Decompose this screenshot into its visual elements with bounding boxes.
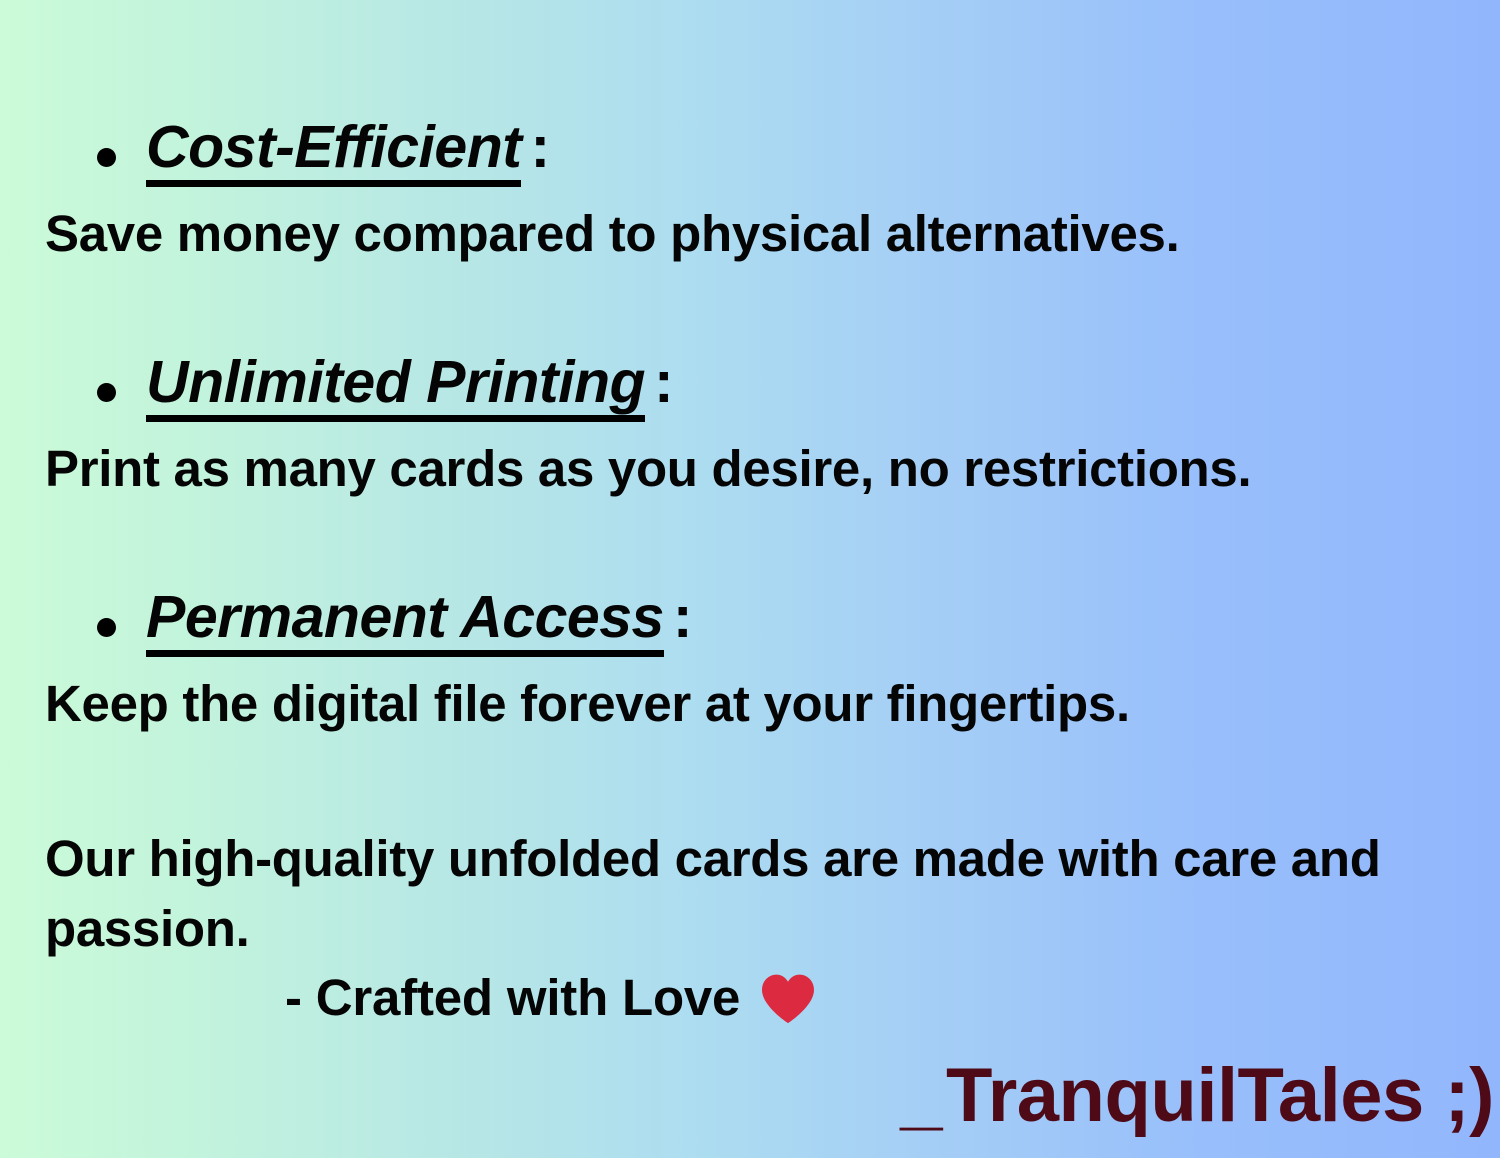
bullet-heading-row: Cost-Efficient: <box>0 118 1500 187</box>
signature-tranquiltales: _TranquilTales ;) <box>900 1056 1494 1136</box>
closing-paragraph: Our high-quality unfolded cards are made… <box>45 824 1425 965</box>
bullet-heading-label: Unlimited Printing <box>146 353 645 422</box>
bullet-dot-icon <box>97 148 116 167</box>
bullet-heading-row: Unlimited Printing: <box>0 353 1500 422</box>
bullet-heading-label: Cost-Efficient <box>146 118 521 187</box>
promo-poster: Cost-Efficient: Save money compared to p… <box>0 0 1500 1158</box>
bullet-description-permanent-access: Keep the digital file forever at your fi… <box>45 678 1130 729</box>
signature-name: TranquilTales ;) <box>946 1053 1494 1138</box>
bullet-block-unlimited-printing: Unlimited Printing: Print as many cards … <box>0 353 1500 422</box>
bullet-heading-colon: : <box>673 584 692 650</box>
bullet-description-cost-efficient: Save money compared to physical alternat… <box>45 208 1179 259</box>
bullet-dot-icon <box>97 383 116 402</box>
bullet-heading-colon: : <box>530 114 549 180</box>
bullet-heading-colon: : <box>654 349 673 415</box>
bullet-heading-label: Permanent Access <box>146 588 664 657</box>
crafted-with-love-line: - Crafted with Love <box>285 968 816 1027</box>
bullet-description-unlimited-printing: Print as many cards as you desire, no re… <box>45 443 1251 494</box>
bullet-heading-cost-efficient: Cost-Efficient: <box>146 118 550 187</box>
signature-underscore: _ <box>900 1053 942 1138</box>
bullet-dot-icon <box>97 618 116 637</box>
crafted-with-love-label: - Crafted with Love <box>285 968 740 1027</box>
bullet-block-permanent-access: Permanent Access: Keep the digital file … <box>0 588 1500 657</box>
bullet-heading-unlimited-printing: Unlimited Printing: <box>146 353 673 422</box>
bullet-heading-permanent-access: Permanent Access: <box>146 588 692 657</box>
heart-icon <box>760 972 816 1024</box>
bullet-block-cost-efficient: Cost-Efficient: Save money compared to p… <box>0 118 1500 187</box>
bullet-heading-row: Permanent Access: <box>0 588 1500 657</box>
